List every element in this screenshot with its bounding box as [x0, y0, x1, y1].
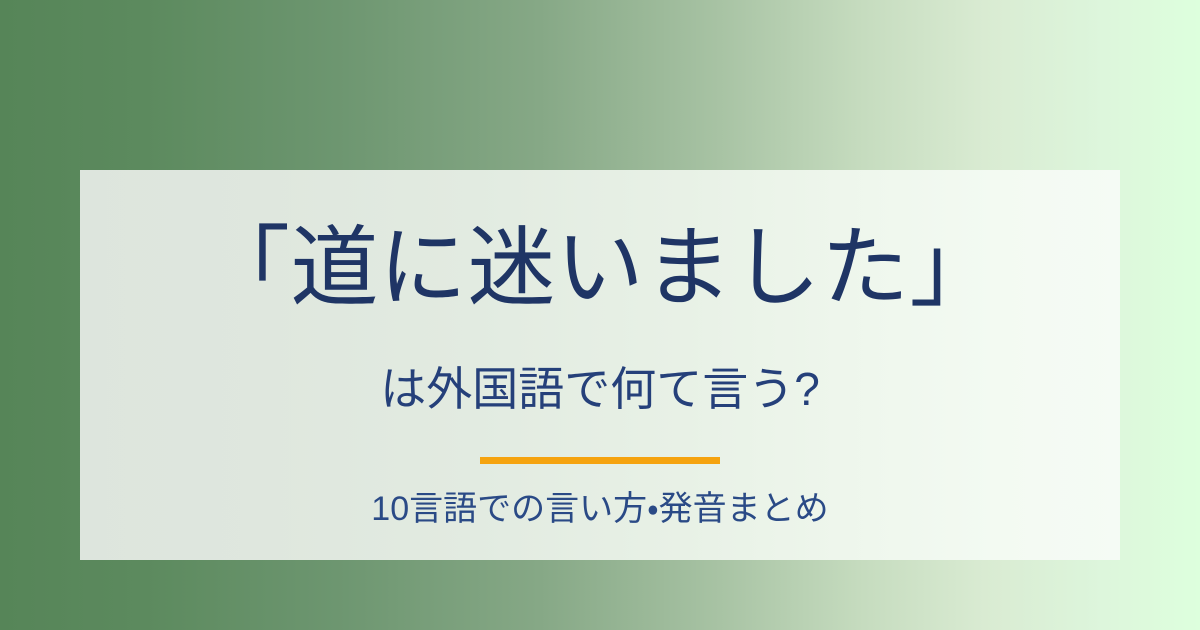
- page-title: 「道に迷いました」: [80, 170, 1120, 312]
- page-subtitle: は外国語で何て言う?: [80, 312, 1120, 412]
- content-card: 「道に迷いました」 は外国語で何て言う? 10言語での言い方・発音まとめ: [80, 170, 1120, 560]
- page-caption: 10言語での言い方・発音まとめ: [80, 464, 1120, 526]
- accent-divider: [480, 457, 720, 464]
- poster-background: 「道に迷いました」 は外国語で何て言う? 10言語での言い方・発音まとめ: [0, 0, 1200, 630]
